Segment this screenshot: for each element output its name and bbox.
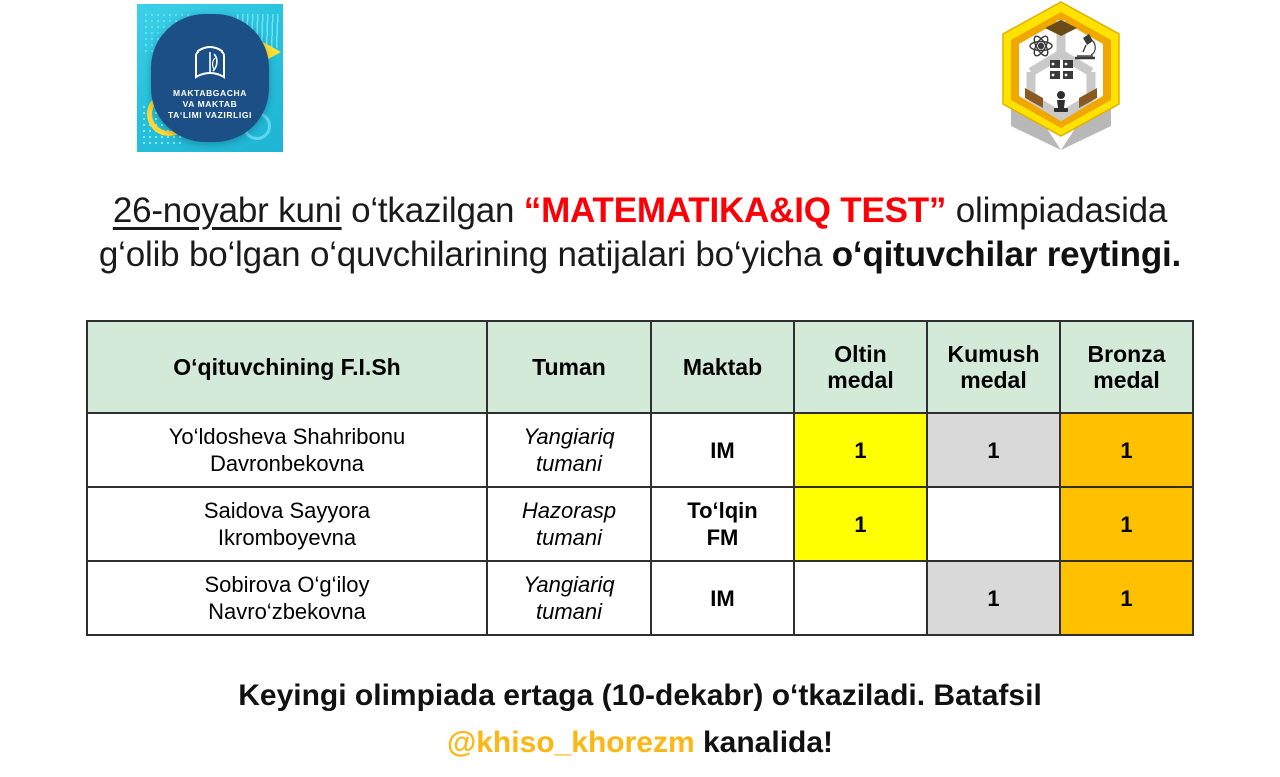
table-row: Yo‘ldosheva Shahribonu Davronbekovna Yan… — [87, 413, 1193, 487]
cell-school: IM — [651, 413, 794, 487]
title-line2-prefix: g‘olib bo‘lgan o‘quvchilarining natijala… — [99, 235, 832, 274]
column-header-teacher-name: O‘qituvchining F.I.Sh — [87, 321, 487, 413]
column-header-bronze-medal: Bronza medal — [1060, 321, 1193, 413]
ministry-logo-text: MAKTABGACHA VA MAKTAB TA‘LIMI VAZIRLIGI — [151, 88, 269, 121]
cell-silver-medal-count — [927, 487, 1060, 561]
title-line2-bold: o‘qituvchilar reytingi. — [832, 235, 1181, 274]
logo-blob-shape: MAKTABGACHA VA MAKTAB TA‘LIMI VAZIRLIGI — [151, 14, 269, 142]
footer-line-2: @khiso_khorezm kanalida! — [0, 719, 1280, 766]
cell-gold-medal-count: 1 — [794, 413, 927, 487]
column-header-school: Maktab — [651, 321, 794, 413]
ministry-logo: MAKTABGACHA VA MAKTAB TA‘LIMI VAZIRLIGI — [137, 4, 283, 152]
table-row: Saidova Sayyora Ikromboyevna Hazorasp tu… — [87, 487, 1193, 561]
footer-announcement: Keyingi olimpiada ertaga (10-dekabr) o‘t… — [0, 672, 1280, 766]
ministry-logo-line-3: TA‘LIMI VAZIRLIGI — [151, 110, 269, 121]
cell-teacher-name: Saidova Sayyora Ikromboyevna — [87, 487, 487, 561]
title-part-2: olimpiadasida — [946, 191, 1167, 230]
title-date-phrase: 26-noyabr kuni — [113, 191, 342, 230]
cell-gold-medal-count: 1 — [794, 487, 927, 561]
cell-silver-medal-count: 1 — [927, 561, 1060, 635]
column-header-gold-medal: Oltin medal — [794, 321, 927, 413]
cell-district: Yangiariq tumani — [487, 561, 651, 635]
cell-bronze-medal-count: 1 — [1060, 413, 1193, 487]
cell-silver-medal-count: 1 — [927, 413, 1060, 487]
title-line-2: g‘olib bo‘lgan o‘quvchilarining natijala… — [0, 233, 1280, 277]
open-book-icon — [193, 44, 227, 82]
cell-district: Yangiariq tumani — [487, 413, 651, 487]
page-title: 26-noyabr kuni o‘tkazilgan “MATEMATIKA&I… — [0, 189, 1280, 277]
olympiad-emblem — [985, 0, 1137, 150]
footer-line-1: Keyingi olimpiada ertaga (10-dekabr) o‘t… — [0, 672, 1280, 719]
ministry-logo-line-1: MAKTABGACHA — [151, 88, 269, 99]
cell-teacher-name: Sobirova O‘g‘iloy Navro‘zbekovna — [87, 561, 487, 635]
cell-teacher-name: Yo‘ldosheva Shahribonu Davronbekovna — [87, 413, 487, 487]
title-olympiad-name: “MATEMATIKA&IQ TEST” — [524, 191, 946, 230]
table-row: Sobirova O‘g‘iloy Navro‘zbekovna Yangiar… — [87, 561, 1193, 635]
column-header-district: Tuman — [487, 321, 651, 413]
cell-gold-medal-count — [794, 561, 927, 635]
cell-district: Hazorasp tumani — [487, 487, 651, 561]
ministry-logo-line-2: VA MAKTAB — [151, 99, 269, 110]
honeycomb-emblem-graphic — [985, 0, 1137, 150]
cell-bronze-medal-count: 1 — [1060, 487, 1193, 561]
cell-bronze-medal-count: 1 — [1060, 561, 1193, 635]
telegram-channel-handle[interactable]: @khiso_khorezm — [447, 726, 695, 759]
title-part-1: o‘tkazilgan — [342, 191, 524, 230]
column-header-silver-medal: Kumush medal — [927, 321, 1060, 413]
cell-school: To‘lqin FM — [651, 487, 794, 561]
table-header-row: O‘qituvchining F.I.Sh Tuman Maktab Oltin… — [87, 321, 1193, 413]
footer-line2-suffix: kanalida! — [695, 726, 833, 759]
cell-school: IM — [651, 561, 794, 635]
teacher-rating-table: O‘qituvchining F.I.Sh Tuman Maktab Oltin… — [86, 320, 1194, 636]
title-line-1: 26-noyabr kuni o‘tkazilgan “MATEMATIKA&I… — [0, 189, 1280, 233]
